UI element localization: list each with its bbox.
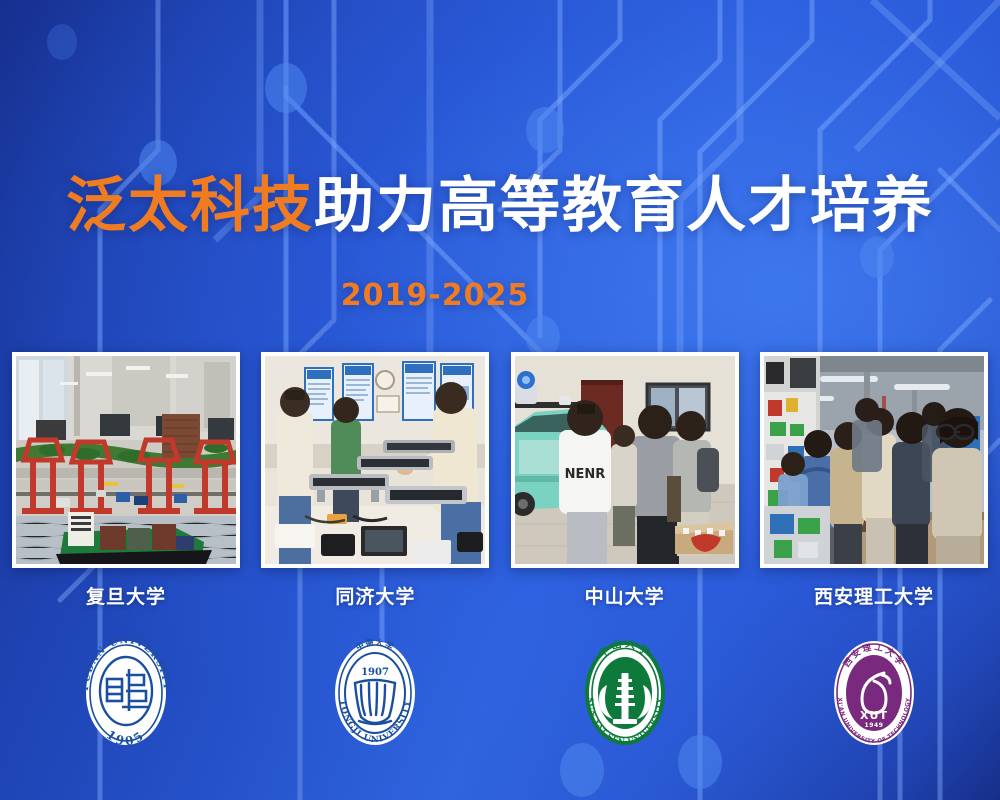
- svg-text:XUT: XUT: [860, 709, 888, 722]
- logo-cell-sysu: 中山大学 SUN YAT-SEN UNIVERSITY: [511, 630, 739, 760]
- logo-cell-fudan: FUDAN UNIVERSITY 1905: [12, 630, 240, 760]
- tongji-university-logo-icon: 中德大学 TONGJI UNIVERSITY 1907: [323, 635, 427, 755]
- photo-lab-benches: [265, 356, 485, 564]
- equipment-foreground: [764, 506, 830, 564]
- photo-workshop-crowd: [764, 356, 984, 564]
- title-rest: 助力高等教育人才培养: [314, 171, 934, 241]
- svg-text:1907: 1907: [361, 667, 389, 678]
- sun-yat-sen-university-logo-icon: 中山大学 SUN YAT-SEN UNIVERSITY: [573, 635, 677, 755]
- caption-sysu: 中山大学: [511, 582, 739, 609]
- photo-frame-fudan: [12, 352, 240, 568]
- fudan-university-logo-icon: FUDAN UNIVERSITY 1905: [74, 635, 178, 755]
- logo-cell-tongji: 中德大学 TONGJI UNIVERSITY 1907: [261, 630, 489, 760]
- photo-autonomous-car: NENR: [515, 356, 735, 564]
- photo-frame-tongji: [261, 352, 489, 568]
- xian-university-of-technology-logo-icon: 西安理工大学 XI'AN UNIVERSITY OF TECHNOLOGY XU…: [822, 635, 926, 755]
- photo-frame-sysu: NENR: [511, 352, 739, 568]
- photo-port-model: [16, 356, 236, 564]
- caption-fudan: 复旦大学: [12, 582, 240, 609]
- shirt-text: NENR: [564, 467, 605, 482]
- caption-xut: 西安理工大学: [760, 582, 988, 609]
- title-block: 泛太科技助力高等教育人才培养: [0, 176, 1000, 236]
- svg-text:1949: 1949: [864, 722, 883, 729]
- subtitle-years: 2019-2025: [0, 278, 1000, 313]
- logo-cell-xut: 西安理工大学 XI'AN UNIVERSITY OF TECHNOLOGY XU…: [760, 630, 988, 760]
- caption-row: 复旦大学 同济大学 中山大学 西安理工大学: [12, 582, 988, 609]
- caption-tongji: 同济大学: [261, 582, 489, 609]
- logo-row: FUDAN UNIVERSITY 1905: [12, 630, 988, 760]
- photo-frame-xut: [760, 352, 988, 568]
- title-brand: 泛太科技: [66, 171, 314, 241]
- poster-canvas: 泛太科技助力高等教育人才培养 2019-2025: [0, 0, 1000, 800]
- photo-row: NENR: [12, 352, 988, 568]
